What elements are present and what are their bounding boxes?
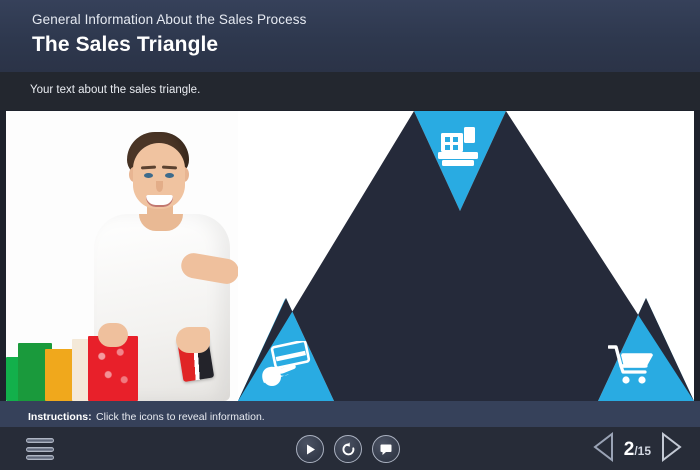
chevron-left-icon [593,432,615,462]
photo-eye-left [144,173,153,178]
header-eyebrow: General Information About the Sales Proc… [32,11,700,28]
hotspot-top[interactable] [436,125,482,169]
photo-hand-right [176,327,210,353]
hamburger-icon-bar [26,438,54,443]
replay-icon [341,442,356,457]
comment-button[interactable] [372,435,400,463]
photo-hand-left [98,323,128,347]
play-button[interactable] [296,435,324,463]
prev-page-button[interactable] [593,432,615,467]
hotspot-bottom-left[interactable] [260,341,312,387]
content-stage [6,111,694,401]
page-counter: 2 /15 [624,440,651,459]
next-page-button[interactable] [660,432,682,467]
hamburger-icon-bar [26,447,54,452]
instructions-label: Instructions: [28,411,92,423]
play-icon [304,443,317,456]
shopper-photo [6,111,238,401]
chevron-right-icon [660,432,682,462]
page-title: The Sales Triangle [32,31,700,58]
media-controls [296,435,406,463]
photo-person [6,111,238,401]
player-control-bar: 2 /15 [0,427,700,470]
credit-card-hand-icon [260,341,312,387]
replay-button[interactable] [334,435,362,463]
hamburger-icon-bar [26,455,54,460]
photo-nose [156,181,163,192]
speech-bubble-icon [379,442,393,456]
slide-root: General Information About the Sales Proc… [0,0,700,470]
subtitle-text: Your text about the sales triangle. [30,83,700,98]
slide-header: General Information About the Sales Proc… [0,0,700,72]
sales-triangle-diagram [238,111,694,401]
hotspot-bottom-right[interactable] [608,343,658,387]
cash-register-icon [436,125,482,169]
page-total: /15 [634,444,651,458]
photo-eye-right [165,173,174,178]
page-current: 2 [624,440,635,459]
instructions-text: Click the icons to reveal information. [96,411,265,423]
menu-button[interactable] [26,438,54,460]
instructions-bar: Instructions: Click the icons to reveal … [0,401,700,427]
shopping-cart-icon [608,343,658,387]
page-navigation: 2 /15 [593,433,682,465]
subtitle-bar: Your text about the sales triangle. [0,72,700,110]
